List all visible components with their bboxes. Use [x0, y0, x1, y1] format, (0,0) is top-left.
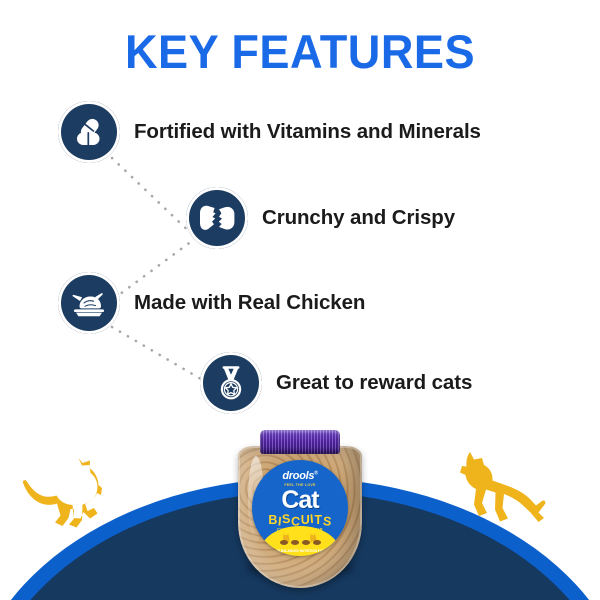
- page-title: KEY FEATURES: [12, 26, 588, 78]
- cat-silhouette-icon: [16, 452, 116, 530]
- infographic-canvas: KEY FEATURES Fortified with Vitamins and…: [0, 0, 600, 600]
- feature-row-crunchy: Crunchy and Crispy: [186, 187, 455, 249]
- label-biscuit-icons: [252, 540, 348, 545]
- label-footnote: COMPLETE AND BALANCED NUTRITION FOR ADUL…: [252, 549, 348, 553]
- biscuit-icon: [313, 540, 321, 545]
- cracked-biscuit-icon: [186, 187, 248, 249]
- feature-label: Made with Real Chicken: [134, 291, 365, 315]
- biscuit-icon: [280, 540, 288, 545]
- sub-letter: T: [314, 514, 322, 527]
- feature-row-reward: Great to reward cats: [200, 352, 472, 414]
- feature-label: Fortified with Vitamins and Minerals: [134, 120, 481, 144]
- biscuit-icon: [291, 540, 299, 545]
- connector-3-4: [112, 327, 206, 382]
- feature-row-real-chicken: Made with Real Chicken: [58, 272, 365, 334]
- award-medal-icon: [200, 352, 262, 414]
- roast-chicken-platter-icon: [58, 272, 120, 334]
- brand-trademark: ®: [314, 470, 317, 476]
- product-name: Cat: [252, 487, 348, 514]
- feature-label: Great to reward cats: [276, 371, 472, 395]
- product-jar: drools® FEEL THE LOVE Cat BISCUITS CHICK…: [232, 430, 368, 600]
- feature-row-fortified: Fortified with Vitamins and Minerals: [58, 101, 481, 163]
- cat-silhouette-icon: [452, 448, 562, 534]
- brand-name: drools: [282, 470, 314, 482]
- capsule-pill-icon: [58, 101, 120, 163]
- jar-lid: [260, 430, 340, 454]
- connector-1-2: [112, 158, 196, 238]
- jar-label: drools® FEEL THE LOVE Cat BISCUITS CHICK…: [252, 460, 348, 556]
- biscuit-icon: [302, 540, 310, 545]
- brand-logo: drools®: [252, 470, 348, 482]
- feature-label: Crunchy and Crispy: [262, 206, 455, 230]
